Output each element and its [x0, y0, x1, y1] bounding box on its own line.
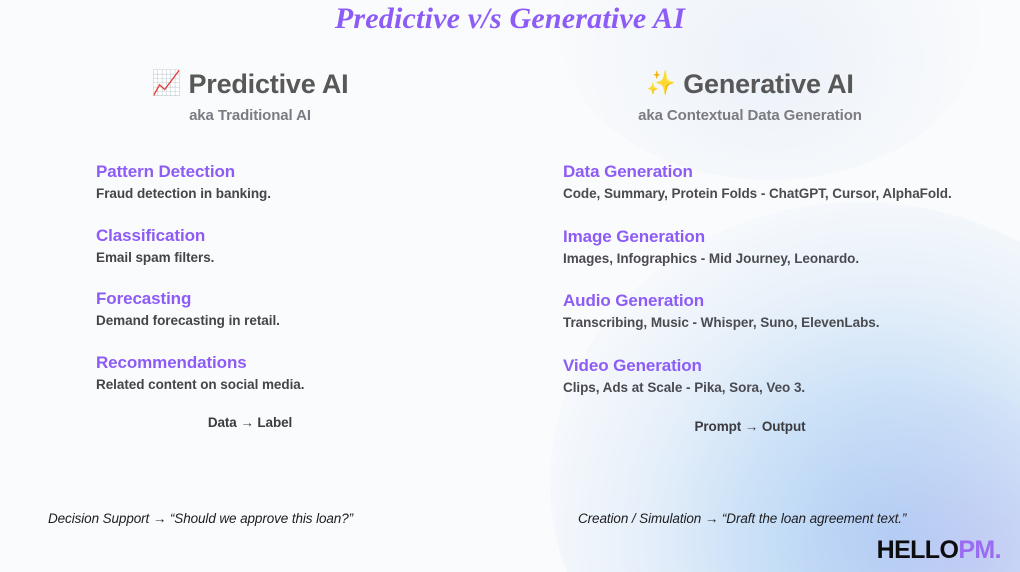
item-description: Fraud detection in banking. — [96, 185, 460, 204]
footnote-generative: Creation / Simulation → “Draft the loan … — [578, 511, 906, 526]
item-description: Transcribing, Music - Whisper, Suno, Ele… — [563, 314, 958, 333]
item-description: Email spam filters. — [96, 249, 460, 268]
item-title: Data Generation — [563, 161, 980, 183]
generative-item-list: Data Generation Code, Summary, Protein F… — [520, 161, 980, 397]
item-description: Demand forecasting in retail. — [96, 312, 460, 331]
column-predictive-ai: 📈Predictive AI aka Traditional AI Patter… — [40, 66, 460, 430]
item-description: Clips, Ads at Scale - Pika, Sora, Veo 3. — [563, 379, 958, 398]
item-title: Video Generation — [563, 355, 980, 377]
item-title: Forecasting — [96, 288, 460, 310]
slide-canvas: Predictive v/s Generative AI 📈Predictive… — [0, 0, 1020, 572]
list-item: Pattern Detection Fraud detection in ban… — [96, 161, 460, 204]
list-item: Forecasting Demand forecasting in retail… — [96, 288, 460, 331]
flow-summary-generative: Prompt → Output — [520, 419, 980, 434]
list-item: Recommendations Related content on socia… — [96, 352, 460, 395]
column-subheading-generative: aka Contextual Data Generation — [520, 107, 980, 124]
list-item: Data Generation Code, Summary, Protein F… — [563, 161, 980, 204]
sparkles-icon: ✨ — [646, 70, 676, 97]
item-title: Audio Generation — [563, 290, 980, 312]
column-generative-ai: ✨Generative AI aka Contextual Data Gener… — [520, 66, 980, 434]
list-item: Image Generation Images, Infographics - … — [563, 226, 980, 269]
item-description: Related content on social media. — [96, 376, 460, 395]
item-description: Images, Infographics - Mid Journey, Leon… — [563, 250, 958, 269]
item-description: Code, Summary, Protein Folds - ChatGPT, … — [563, 185, 958, 204]
column-heading-label: Generative AI — [683, 69, 853, 99]
brand-logo-pm: PM — [958, 536, 994, 564]
brand-logo: HELLOPM. — [877, 536, 1001, 564]
slide-content: Predictive v/s Generative AI 📈Predictive… — [0, 0, 1020, 572]
item-title: Classification — [96, 225, 460, 247]
list-item: Classification Email spam filters. — [96, 225, 460, 268]
list-item: Video Generation Clips, Ads at Scale - P… — [563, 355, 980, 398]
item-title: Pattern Detection — [96, 161, 460, 183]
chart-increasing-icon: 📈 — [152, 70, 182, 97]
predictive-item-list: Pattern Detection Fraud detection in ban… — [40, 161, 460, 394]
flow-summary-predictive: Data → Label — [40, 415, 460, 430]
brand-logo-dot: . — [995, 536, 1001, 564]
column-heading-label: Predictive AI — [188, 69, 348, 99]
footnote-predictive: Decision Support → “Should we approve th… — [48, 511, 353, 526]
column-header-predictive: 📈Predictive AI — [40, 66, 460, 102]
column-header-generative: ✨Generative AI — [520, 66, 980, 102]
item-title: Image Generation — [563, 226, 980, 248]
item-title: Recommendations — [96, 352, 460, 374]
column-subheading-predictive: aka Traditional AI — [40, 107, 460, 124]
list-item: Audio Generation Transcribing, Music - W… — [563, 290, 980, 333]
page-title: Predictive v/s Generative AI — [0, 2, 1020, 36]
brand-logo-hello: HELLO — [877, 536, 959, 564]
